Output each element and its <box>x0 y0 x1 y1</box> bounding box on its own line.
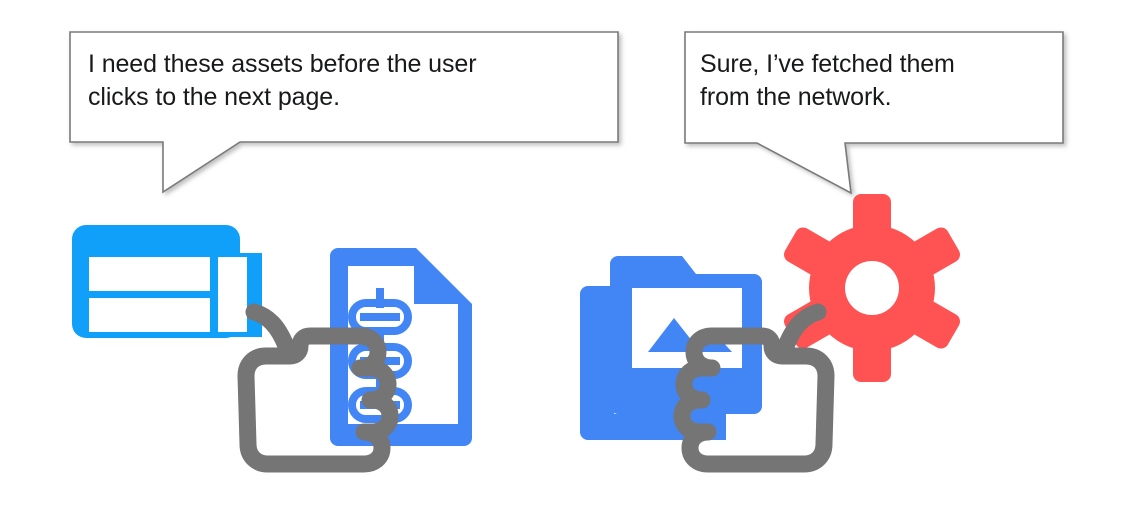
document-links-icon <box>330 248 472 446</box>
illustration-canvas: I need these assets before the user clic… <box>0 0 1130 528</box>
speech-bubble-left-text: I need these assets before the user clic… <box>88 48 608 114</box>
image-library-icon <box>580 256 762 440</box>
speech-bubble-right-text: Sure, I’ve fetched them from the network… <box>700 48 1050 114</box>
